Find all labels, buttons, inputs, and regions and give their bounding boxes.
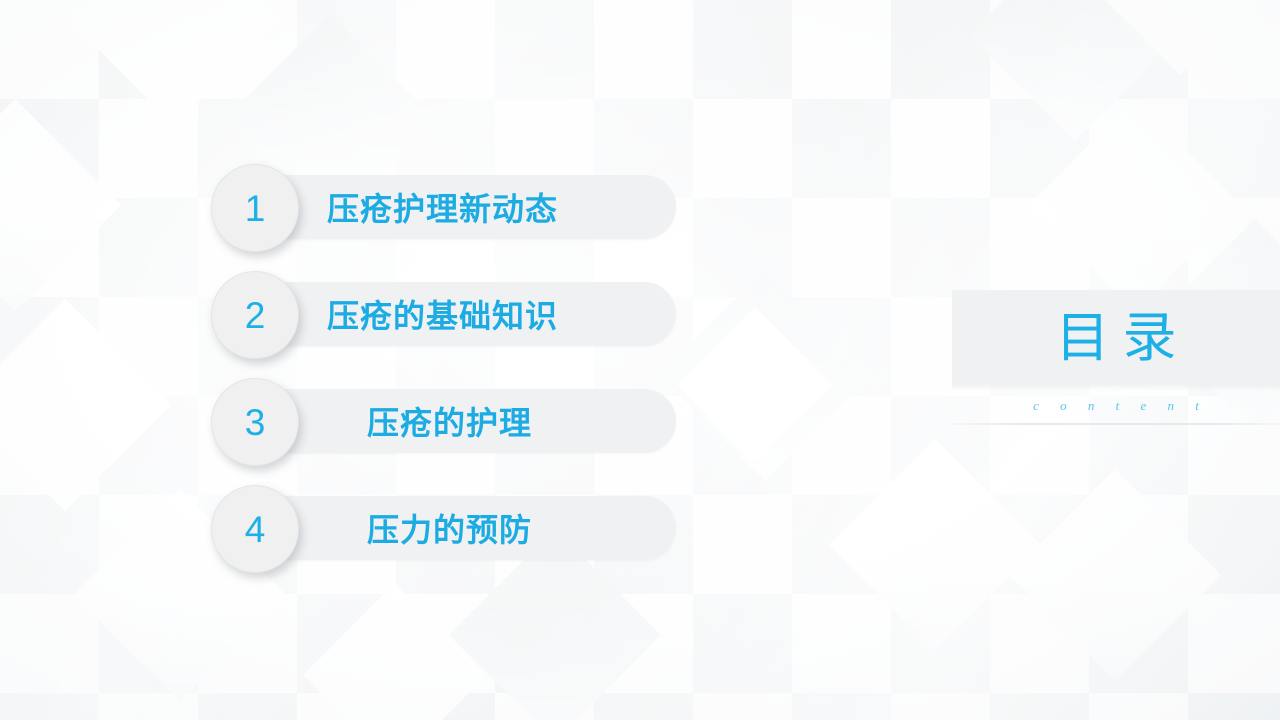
page-title: 目录 <box>1043 311 1190 365</box>
toc-item-label: 压疮的基础知识 <box>327 282 558 346</box>
content-title-panel: 目录 c o n t e n t <box>952 290 1280 425</box>
content-title-band: 目录 <box>952 290 1280 385</box>
toc-item-number-badge: 2 <box>211 271 299 359</box>
page-subtitle: c o n t e n t <box>952 398 1280 414</box>
toc-item-1[interactable]: 1 压疮护理新动态 <box>211 175 681 239</box>
toc-item-number-badge: 1 <box>211 164 299 252</box>
toc-item-number: 3 <box>245 404 266 441</box>
toc-item-number: 1 <box>245 190 266 227</box>
toc-item-3[interactable]: 3 压疮的护理 <box>211 389 681 453</box>
toc-item-label: 压疮护理新动态 <box>327 175 558 239</box>
toc-item-number-badge: 3 <box>211 378 299 466</box>
toc-item-label: 压力的预防 <box>367 496 532 560</box>
toc-item-2[interactable]: 2 压疮的基础知识 <box>211 282 681 346</box>
toc-item-number: 4 <box>245 511 266 548</box>
table-of-contents-list: 1 压疮护理新动态 2 压疮的基础知识 3 压疮的护理 4 压力的预防 <box>211 175 681 560</box>
panel-divider <box>952 423 1280 425</box>
toc-item-number-badge: 4 <box>211 485 299 573</box>
presentation-slide: 1 压疮护理新动态 2 压疮的基础知识 3 压疮的护理 4 压力的预防 <box>0 0 1280 720</box>
toc-item-4[interactable]: 4 压力的预防 <box>211 496 681 560</box>
toc-item-label: 压疮的护理 <box>367 389 532 453</box>
toc-item-number: 2 <box>245 297 266 334</box>
